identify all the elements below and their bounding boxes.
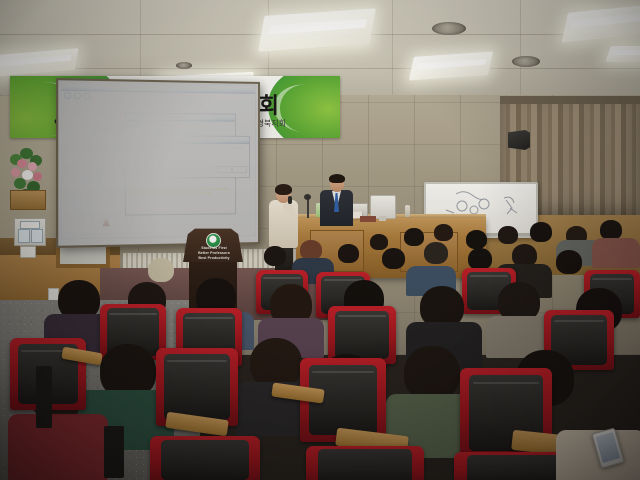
- auditorium-seat: [150, 436, 260, 480]
- ceiling-smoke-detector-icon: [176, 62, 192, 69]
- audience-head: [250, 338, 302, 388]
- ceiling-light: [258, 8, 376, 52]
- ceiling-vent-icon: [512, 56, 540, 67]
- audience-head: [404, 346, 460, 400]
- audience-head: [556, 250, 582, 274]
- ceiling-light: [605, 46, 640, 62]
- auditorium-seat: [306, 446, 424, 480]
- audience-head: [382, 248, 405, 269]
- seat-pedestal: [36, 366, 52, 428]
- forward-icon[interactable]: [73, 91, 81, 98]
- address-bar[interactable]: [93, 92, 253, 102]
- cancel-button[interactable]: [232, 166, 247, 173]
- back-icon[interactable]: [64, 91, 72, 98]
- audience: [0, 218, 640, 480]
- water-bottle: [405, 205, 410, 217]
- ceiling-light: [561, 3, 640, 42]
- audience-head: [600, 220, 622, 240]
- audience-head: [338, 244, 359, 263]
- ceiling-light: [0, 48, 79, 78]
- ok-button[interactable]: [217, 166, 232, 173]
- document-heading: Adobe Re: [98, 127, 118, 132]
- audience-shoulders: [592, 238, 640, 268]
- audience-head: [466, 230, 487, 249]
- speaker-hair: [275, 184, 292, 195]
- microphone-icon: [304, 194, 311, 200]
- audience-head: [424, 242, 448, 264]
- audience-head: [468, 248, 492, 270]
- stop-icon[interactable]: [83, 92, 91, 99]
- dialog-secondary[interactable]: [148, 135, 250, 178]
- handheld-microphone: [288, 196, 292, 204]
- audience-head-cap: [264, 246, 286, 266]
- moderator-hair: [329, 174, 345, 183]
- seat-pedestal: [104, 426, 124, 478]
- ceiling-light: [409, 51, 494, 80]
- audience-head: [498, 226, 518, 244]
- auditorium-photo: 2 술대회 일시 대구경북지회: [0, 0, 640, 480]
- curtain-rail: [500, 96, 640, 104]
- audience-head: [530, 222, 552, 242]
- wall-speaker: [508, 130, 530, 150]
- microphone-stand: [307, 198, 309, 218]
- audience-head: [404, 228, 424, 246]
- flower-shelf: [10, 190, 46, 210]
- warning-icon: [153, 147, 162, 156]
- progress-bar: [153, 167, 215, 172]
- ceiling-vent-icon: [432, 22, 466, 35]
- audience-head: [300, 240, 322, 260]
- audience-head: [148, 258, 174, 282]
- audience-head: [370, 234, 388, 250]
- audience-head: [434, 224, 453, 241]
- phone-screen: [595, 432, 620, 463]
- audience-shoulders: [8, 414, 108, 480]
